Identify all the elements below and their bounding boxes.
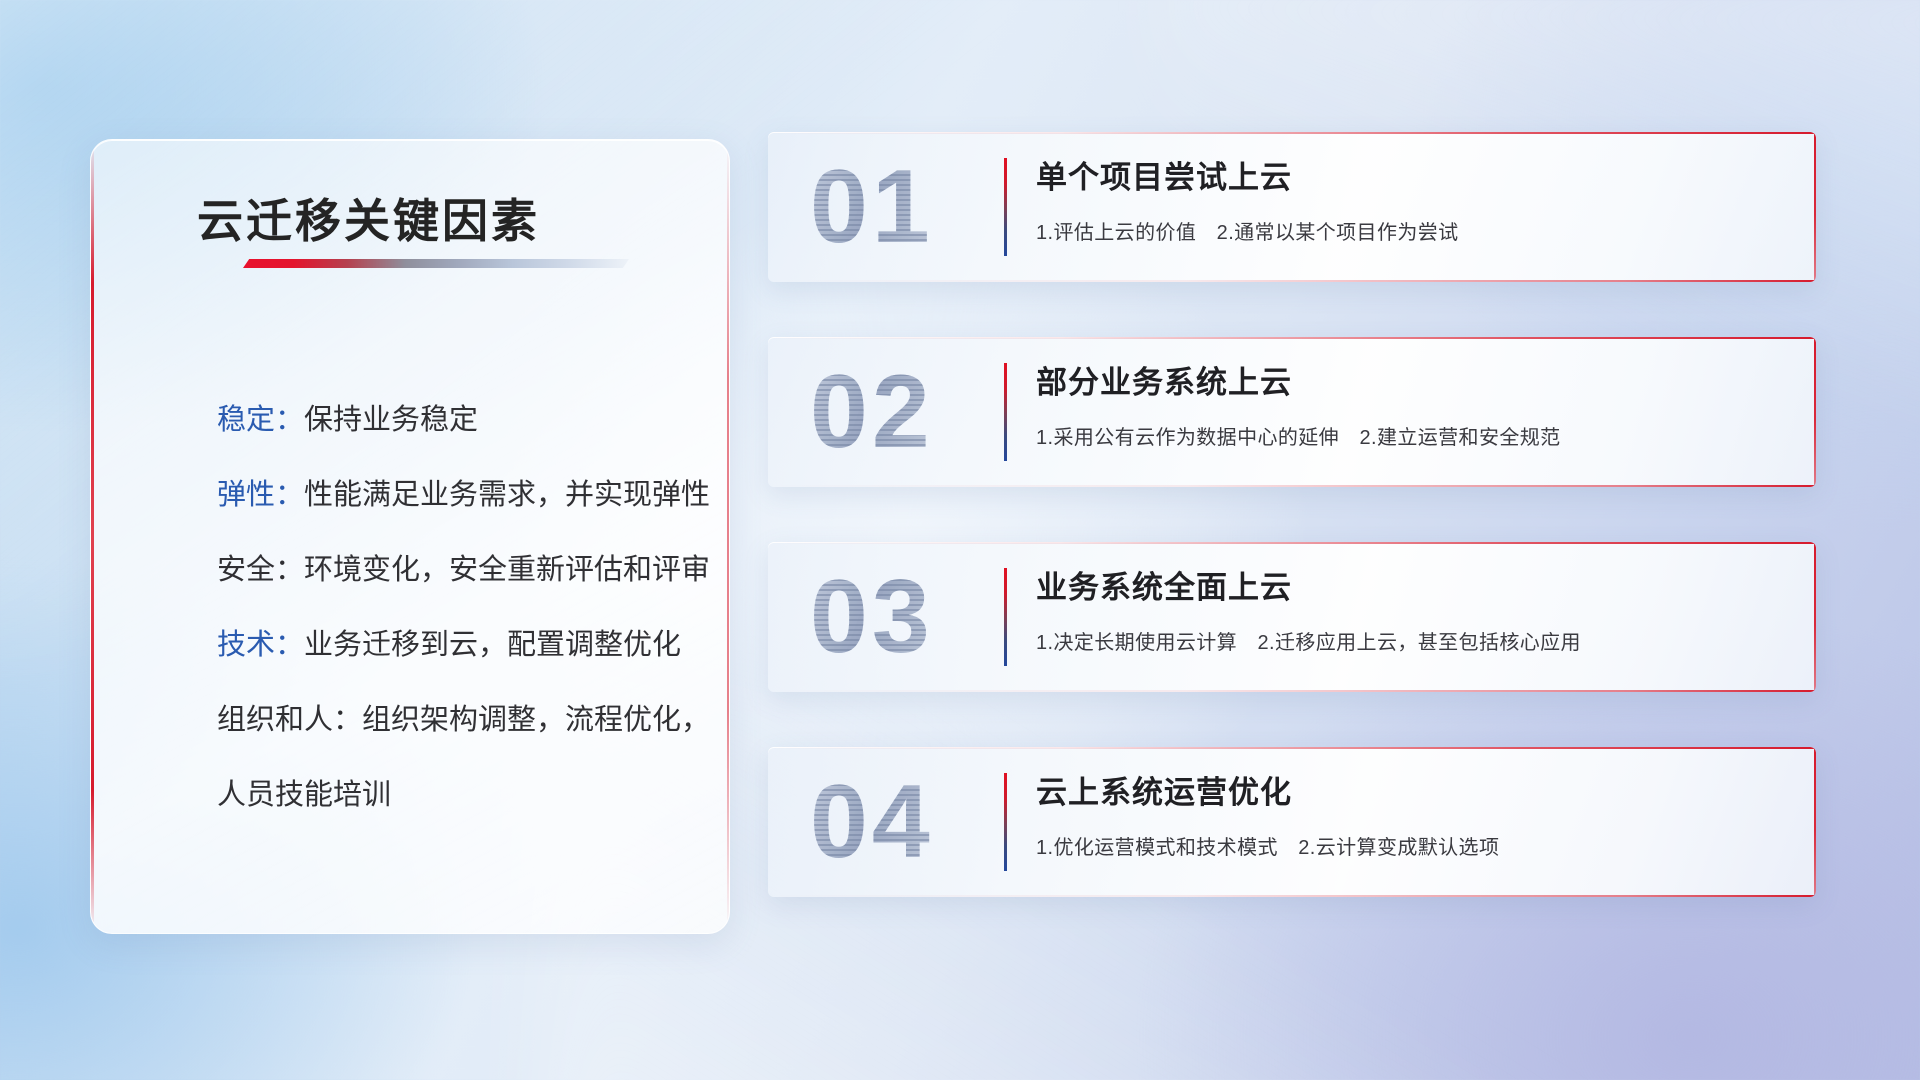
factor-value: 性能满足业务需求，并实现弹性 bbox=[304, 479, 710, 511]
step-title: 云上系统运营优化 bbox=[1036, 767, 1292, 812]
factor-label: 稳定： bbox=[217, 404, 304, 436]
step-subtitle: 1.决定长期使用云计算 2.迁移应用上云，甚至包括核心应用 bbox=[1036, 626, 1581, 655]
migration-steps-list: 01 01 单个项目尝试上云 1.评估上云的价值 2.通常以某个项目作为尝试 0… bbox=[768, 132, 1816, 952]
step-card-04[interactable]: 04 04 云上系统运营优化 1.优化运营模式和技术模式 2.云计算变成默认选项 bbox=[768, 747, 1816, 897]
step-subtitle: 1.评估上云的价值 2.通常以某个项目作为尝试 bbox=[1036, 216, 1459, 245]
list-item: 安全：环境变化，安全重新评估和评审 bbox=[217, 533, 687, 608]
step-card-02[interactable]: 02 02 部分业务系统上云 1.采用公有云作为数据中心的延伸 2.建立运营和安… bbox=[768, 337, 1816, 487]
factor-value: 组织架构调整，流程优化， bbox=[362, 704, 710, 736]
card-bottom-edge bbox=[768, 485, 1816, 487]
step-card-03[interactable]: 03 03 业务系统全面上云 1.决定长期使用云计算 2.迁移应用上云，甚至包括… bbox=[768, 542, 1816, 692]
factor-list: 稳定：保持业务稳定 弹性：性能满足业务需求，并实现弹性 安全：环境变化，安全重新… bbox=[217, 383, 687, 833]
step-divider-bar bbox=[1004, 773, 1007, 871]
slide-stage: 云迁移关键因素 稳定：保持业务稳定 弹性：性能满足业务需求，并实现弹性 安全：环… bbox=[0, 0, 1920, 1080]
list-item: 弹性：性能满足业务需求，并实现弹性 bbox=[217, 458, 687, 533]
card-bottom-edge bbox=[768, 280, 1816, 282]
list-item: 稳定：保持业务稳定 bbox=[217, 383, 687, 458]
factor-value: 保持业务稳定 bbox=[304, 404, 478, 436]
step-number-02: 02 bbox=[810, 349, 934, 475]
list-item: 技术：业务迁移到云，配置调整优化 bbox=[217, 608, 687, 683]
factor-label: 组织和人： bbox=[217, 704, 362, 736]
page-title: 云迁移关键因素 bbox=[197, 185, 540, 251]
factor-value: 业务迁移到云，配置调整优化 bbox=[304, 629, 681, 661]
step-divider-bar bbox=[1004, 363, 1007, 461]
list-item: 组织和人：组织架构调整，流程优化， bbox=[217, 683, 687, 758]
key-factors-panel: 云迁移关键因素 稳定：保持业务稳定 弹性：性能满足业务需求，并实现弹性 安全：环… bbox=[90, 139, 730, 934]
title-underline-rule bbox=[243, 259, 629, 268]
step-divider-bar bbox=[1004, 568, 1007, 666]
card-bottom-edge bbox=[768, 895, 1816, 897]
step-number-03: 03 bbox=[810, 554, 934, 680]
step-subtitle: 1.优化运营模式和技术模式 2.云计算变成默认选项 bbox=[1036, 831, 1499, 860]
list-item-continuation: 人员技能培训 bbox=[217, 758, 687, 833]
step-title: 单个项目尝试上云 bbox=[1036, 152, 1292, 197]
step-number-04: 04 bbox=[810, 759, 934, 885]
step-title: 部分业务系统上云 bbox=[1036, 357, 1292, 402]
step-title: 业务系统全面上云 bbox=[1036, 562, 1292, 607]
step-number-01: 01 bbox=[810, 144, 934, 270]
step-subtitle: 1.采用公有云作为数据中心的延伸 2.建立运营和安全规范 bbox=[1036, 421, 1561, 450]
factor-label: 弹性： bbox=[217, 479, 304, 511]
factor-value: 环境变化，安全重新评估和评审 bbox=[304, 554, 710, 586]
card-bottom-edge bbox=[768, 690, 1816, 692]
step-card-01[interactable]: 01 01 单个项目尝试上云 1.评估上云的价值 2.通常以某个项目作为尝试 bbox=[768, 132, 1816, 282]
factor-value: 人员技能培训 bbox=[217, 779, 391, 811]
step-divider-bar bbox=[1004, 158, 1007, 256]
factor-label: 安全： bbox=[217, 554, 304, 586]
factor-label: 技术： bbox=[217, 629, 304, 661]
